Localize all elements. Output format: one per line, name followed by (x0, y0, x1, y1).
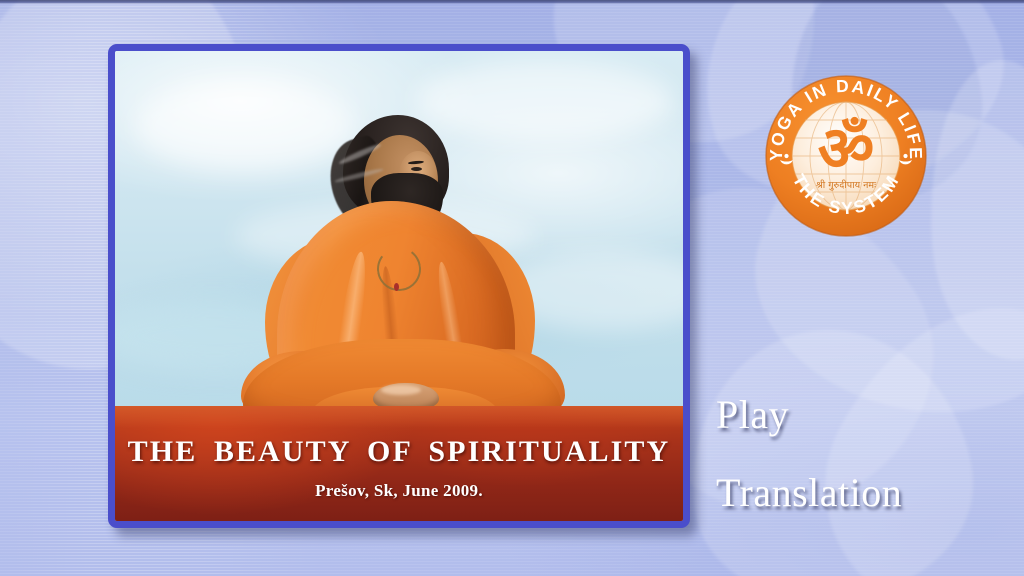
yoga-in-daily-life-logo: YOGA IN DAILY LIFE THE SYSTEM ॐ श्री गुर… (762, 72, 930, 240)
menu-item-play[interactable]: Play (716, 386, 1016, 444)
figure-eye (411, 167, 422, 171)
dvd-menu-screen: THE BEAUTY OF SPIRITUALITY Prešov, Sk, J… (0, 0, 1024, 576)
om-symbol: ॐ (818, 112, 875, 185)
cover-title: THE BEAUTY OF SPIRITUALITY (115, 435, 683, 469)
figure-mala-bead (394, 283, 399, 291)
letterbox-edge (0, 0, 1024, 4)
cover-artwork-frame[interactable]: THE BEAUTY OF SPIRITUALITY Prešov, Sk, J… (108, 44, 690, 528)
logo-sanskrit-text: श्री गुरुदीपाय नमः (816, 179, 877, 191)
cover-subtitle: Prešov, Sk, June 2009. (115, 481, 683, 501)
cover-artwork: THE BEAUTY OF SPIRITUALITY Prešov, Sk, J… (115, 51, 683, 521)
figure-hands-highlight (381, 385, 421, 395)
menu-item-translation[interactable]: Translation (716, 464, 1016, 522)
dvd-menu-list: Play Translation (716, 386, 1016, 522)
